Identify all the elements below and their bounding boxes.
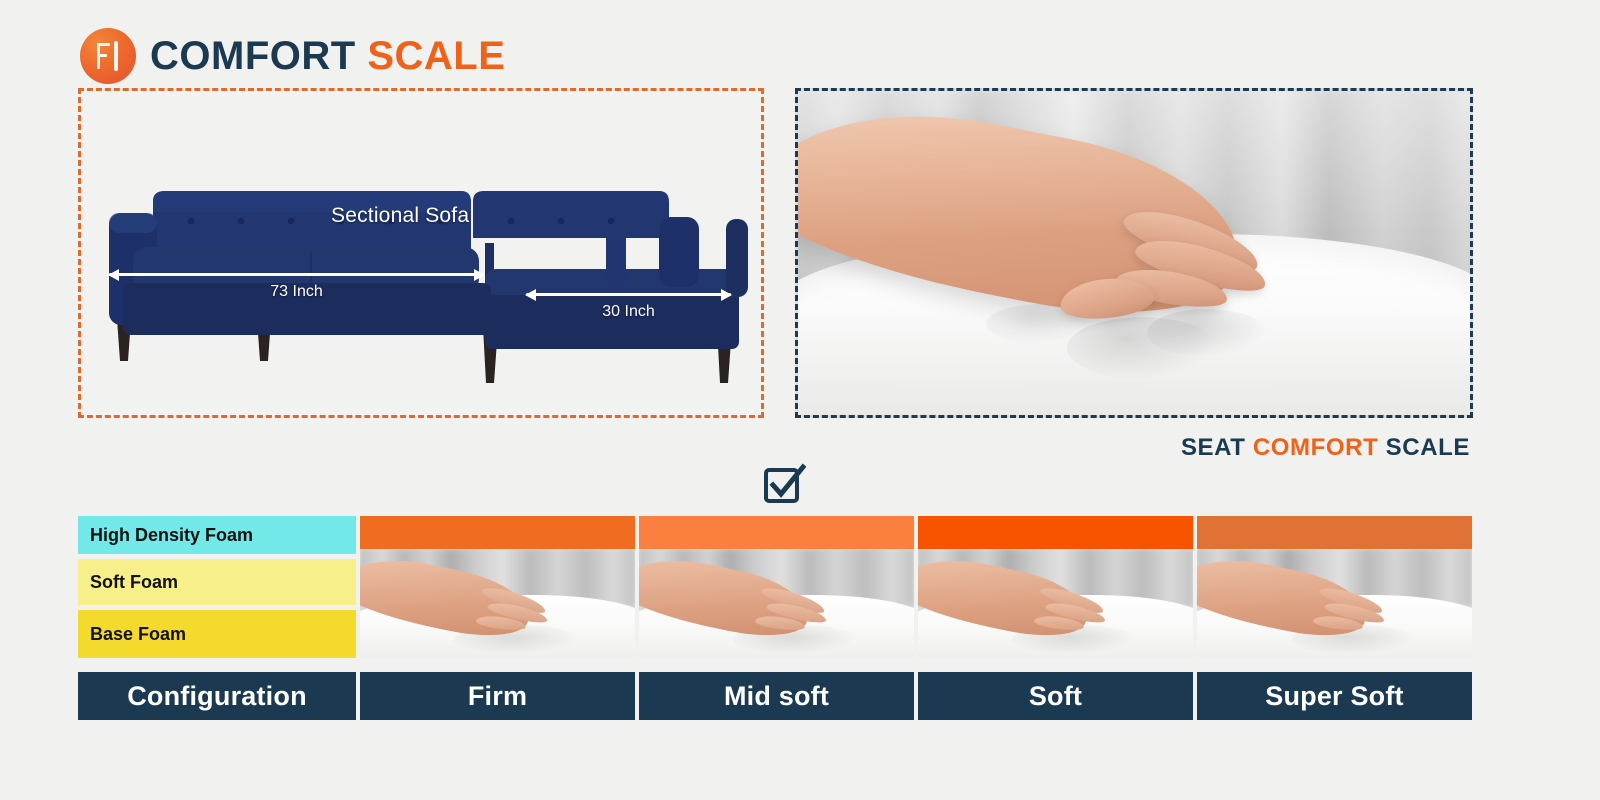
label-configuration-cell: Configuration <box>78 672 356 720</box>
label-mid-soft-cell[interactable]: Mid soft <box>639 672 914 720</box>
comfort-sample-soft[interactable] <box>918 516 1193 658</box>
label-firm: Firm <box>360 672 635 720</box>
label-super-soft: Super Soft <box>1197 672 1472 720</box>
page-title-part1: COMFORT <box>150 34 356 78</box>
comfort-matrix: High Density Foam Soft Foam Base Foam <box>78 516 1472 720</box>
sofa-product-label: Sectional Sofa <box>331 204 469 228</box>
foam-photo-panel <box>795 88 1473 418</box>
label-configuration: Configuration <box>78 672 356 720</box>
comfort-sample-firm[interactable] <box>360 516 635 658</box>
seat-comfort-scale-caption: SEAT COMFORT SCALE <box>1181 434 1470 462</box>
foam-band-base: Base Foam <box>78 610 356 658</box>
caption-part3: SCALE <box>1386 434 1470 461</box>
sofa-illustration: Sectional Sofa 73 Inch 30 Inch <box>81 91 761 415</box>
foam-band-soft: Soft Foam <box>78 559 356 605</box>
label-mid-soft: Mid soft <box>639 672 914 720</box>
label-soft-cell[interactable]: Soft <box>918 672 1193 720</box>
checkbox-checked-icon <box>762 462 806 506</box>
caption-part2: COMFORT <box>1253 434 1379 461</box>
foam-thumb-soft <box>918 549 1193 658</box>
matrix-labels-row: Configuration Firm Mid soft Soft Super S… <box>78 672 1472 720</box>
label-firm-cell[interactable]: Firm <box>360 672 635 720</box>
foam-thumb-mid-soft <box>639 549 914 658</box>
sofa-diagram-panel: Sectional Sofa 73 Inch 30 Inch <box>78 88 764 418</box>
firmness-bar-soft <box>918 516 1193 549</box>
firmness-bar-super-soft <box>1197 516 1472 549</box>
page-header: COMFORT SCALE <box>80 28 505 84</box>
page-title-part2: SCALE <box>367 34 505 78</box>
comfort-sample-super-soft[interactable] <box>1197 516 1472 658</box>
caption-part1: SEAT <box>1181 434 1246 461</box>
page-title: COMFORT SCALE <box>150 36 505 76</box>
label-soft: Soft <box>918 672 1193 720</box>
foam-thumb-super-soft <box>1197 549 1472 658</box>
sofa-svg <box>81 91 767 421</box>
foam-thumb-firm <box>360 549 635 658</box>
sofa-depth-value: 30 Inch <box>526 303 731 321</box>
foam-legend-column: High Density Foam Soft Foam Base Foam <box>78 516 356 658</box>
furniture-logo-icon <box>80 28 136 84</box>
comfort-scale-infographic: COMFORT SCALE <box>0 0 1600 800</box>
firmness-bar-firm <box>360 516 635 549</box>
sofa-width-value: 73 Inch <box>109 283 484 301</box>
matrix-samples-row: High Density Foam Soft Foam Base Foam <box>78 516 1472 658</box>
comfort-sample-mid-soft[interactable] <box>639 516 914 658</box>
hand-pressing-foam-image <box>798 91 1470 415</box>
firmness-bar-mid-soft <box>639 516 914 549</box>
label-super-soft-cell[interactable]: Super Soft <box>1197 672 1472 720</box>
foam-band-high-density: High Density Foam <box>78 516 356 554</box>
